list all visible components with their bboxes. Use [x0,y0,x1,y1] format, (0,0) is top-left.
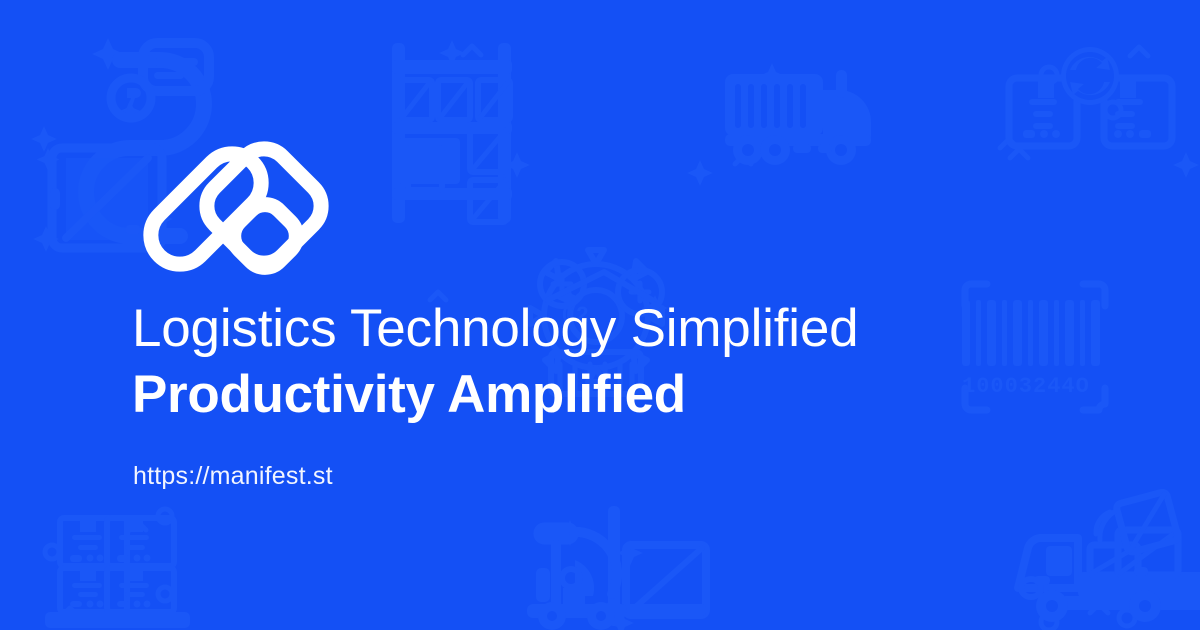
brand-logo [130,132,330,282]
manifest-logo-icon [130,132,330,282]
headline-line-1: Logistics Technology Simplified [132,298,1092,360]
headline-block: Logistics Technology Simplified Producti… [132,298,1092,426]
card-content: Logistics Technology Simplified Producti… [132,0,1132,630]
site-url: https://manifest.st [133,460,333,492]
social-share-card: 02 [0,0,1200,630]
headline-line-2: Productivity Amplified [132,364,1092,426]
